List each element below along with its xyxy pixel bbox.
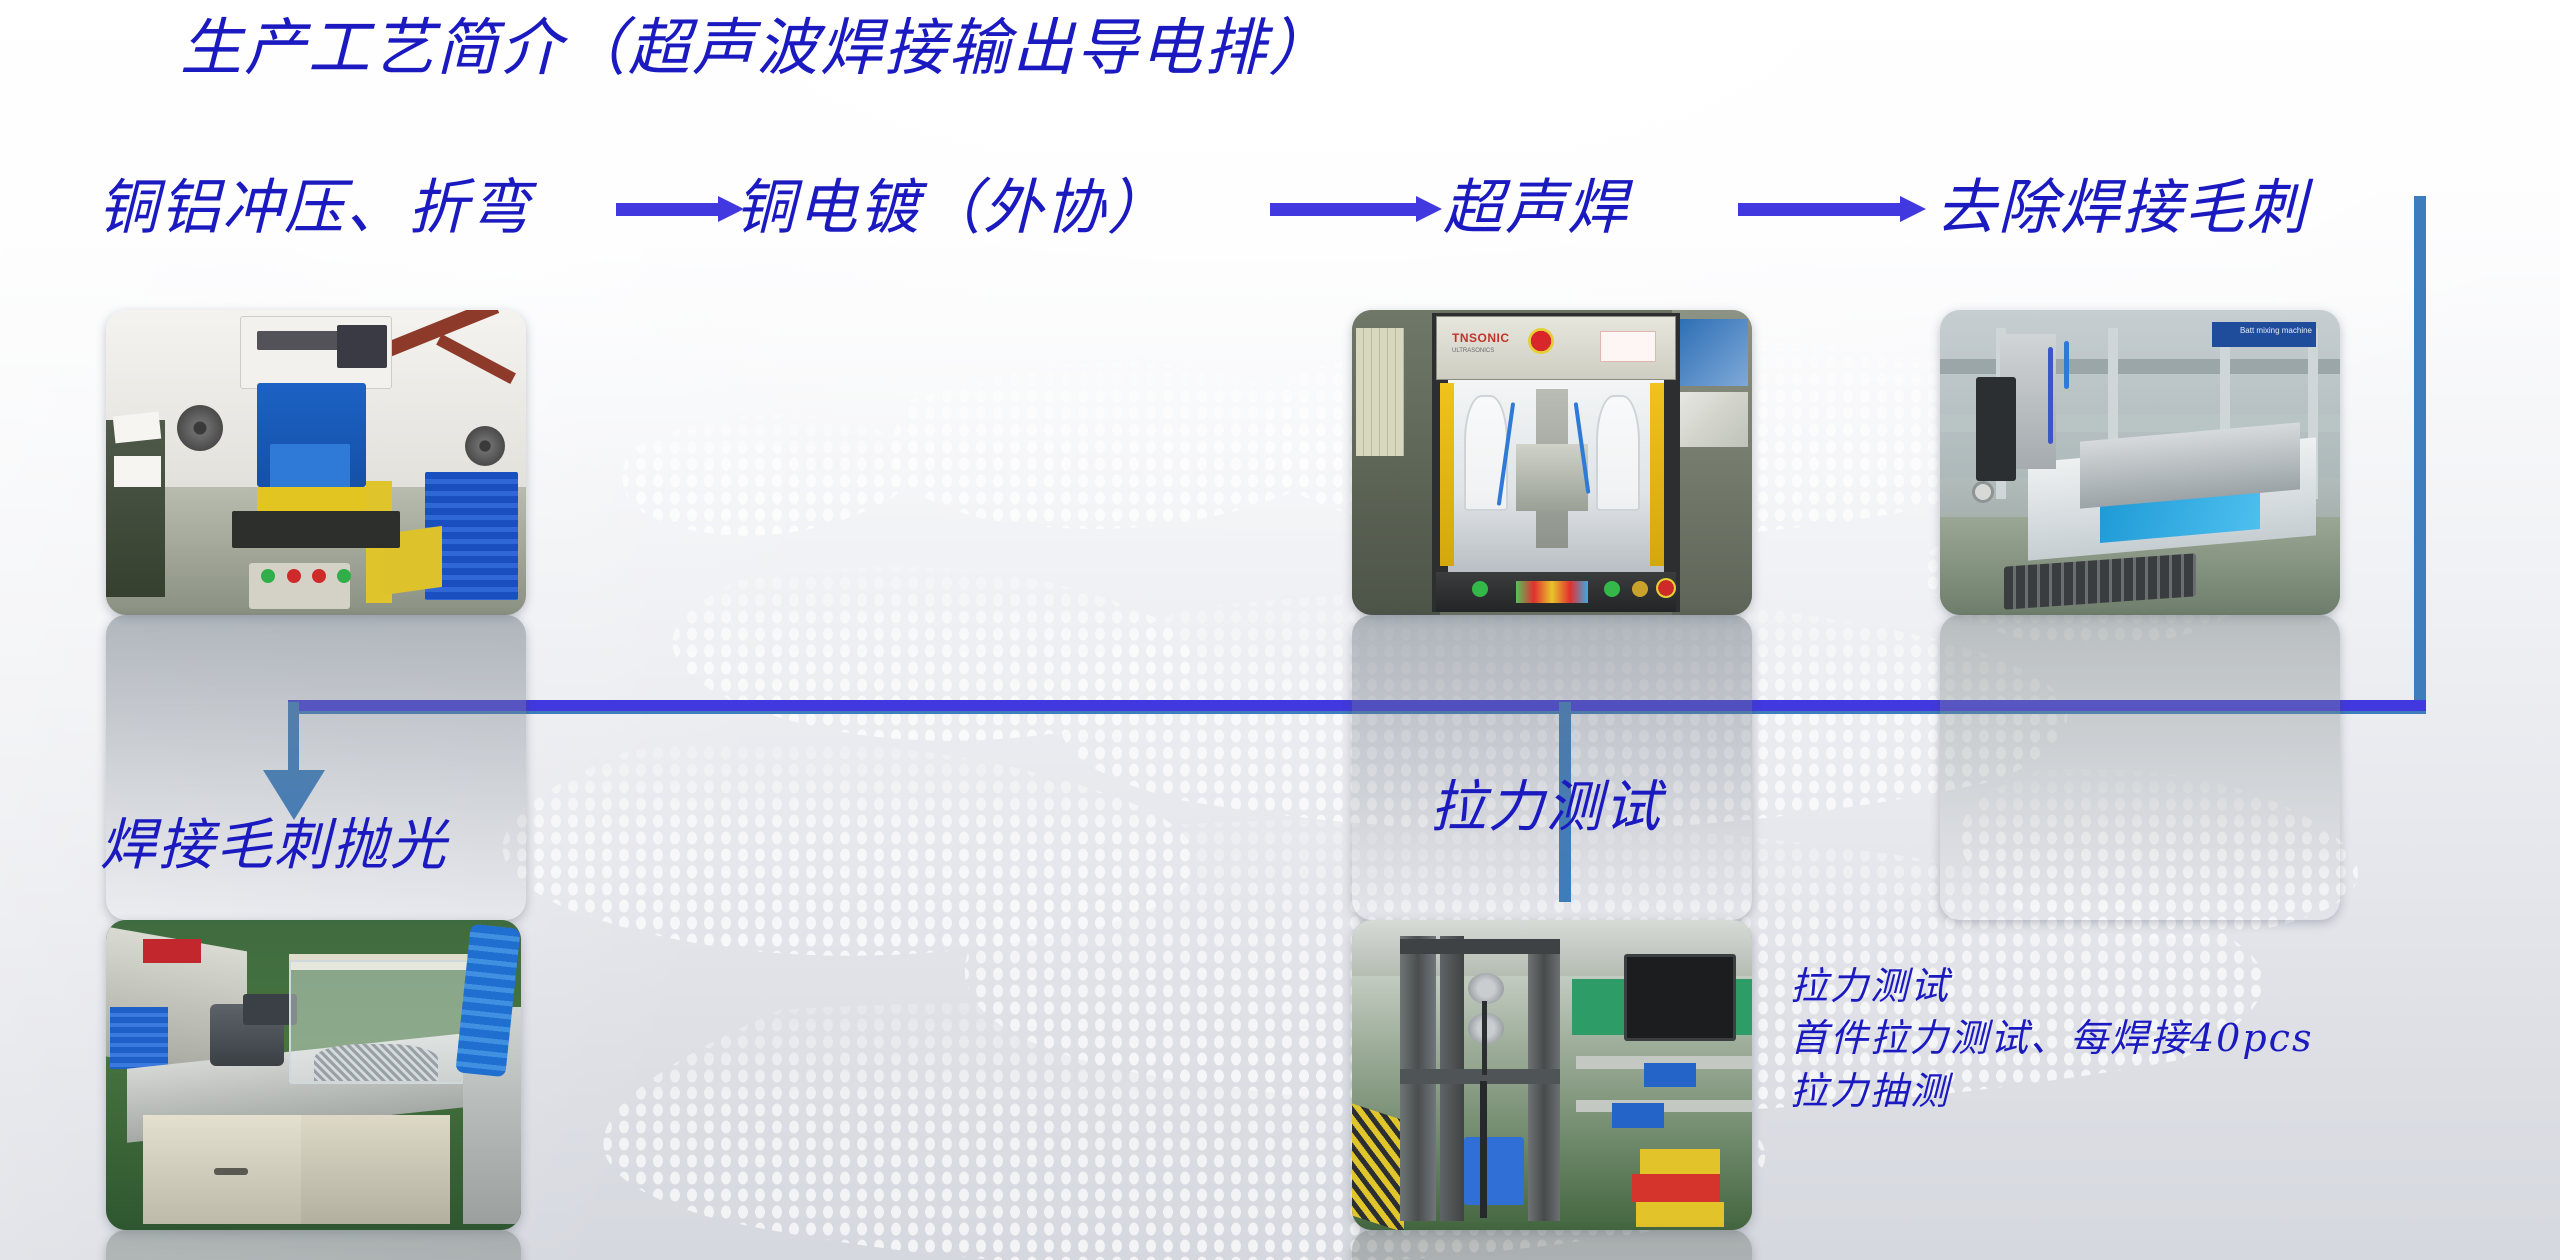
blue-hose xyxy=(2048,347,2053,445)
photo-deburring-machine-image: Batt mixing machine xyxy=(1940,310,2340,615)
note-line-1: 拉力测试 xyxy=(1790,960,2313,1012)
blue-stool xyxy=(1464,1137,1524,1205)
photo-tensile-tester-image xyxy=(1352,920,1752,1230)
welder-brand-subtext: ULTRASONICS xyxy=(1452,348,1494,354)
photo-deburring-machine: Batt mixing machine xyxy=(1940,310,2340,615)
arrow-shaft xyxy=(1270,203,1418,216)
notice-board-2 xyxy=(1680,392,1748,447)
button-legend-strip xyxy=(1516,581,1588,602)
polishing-wheel xyxy=(314,1044,439,1081)
connector-right-vertical xyxy=(2414,196,2426,714)
arrow-right-icon-2 xyxy=(1270,196,1442,222)
light-curtain-left xyxy=(1440,383,1454,566)
cabinet-frame xyxy=(301,1115,450,1224)
photo-tensile-tester xyxy=(1352,920,1752,1230)
side-shelf xyxy=(106,420,165,597)
photo-reflection xyxy=(106,1230,521,1260)
flow-step-deburring: 去除焊接毛刺 xyxy=(1936,178,2308,238)
black-cable-guard xyxy=(1976,377,2016,481)
blue-bin-2 xyxy=(1612,1103,1664,1128)
floor-hazard-tape xyxy=(1352,1104,1404,1230)
yellow-bin xyxy=(1640,1149,1720,1174)
photo-stamping-press-image xyxy=(106,310,526,615)
specimen-rod xyxy=(1482,1001,1487,1075)
wall-fan-icon xyxy=(177,405,223,451)
welder-tooling xyxy=(1516,444,1588,511)
light-curtain-right xyxy=(1650,383,1664,566)
red-crate xyxy=(143,939,201,964)
blue-signage-text: Batt mixing machine xyxy=(2240,326,2312,335)
arrow-head xyxy=(1900,196,1926,222)
arrow-right-icon-3 xyxy=(1738,196,1926,222)
monitor-screen xyxy=(1624,954,1736,1041)
photo-ultrasonic-welder: TNSONIC ULTRASONICS xyxy=(1352,310,1752,615)
wall-paper-sign-2 xyxy=(114,456,160,487)
tensile-test-note: 拉力测试 首件拉力测试、每焊接40pcs 拉力抽测 xyxy=(1790,960,2313,1117)
flow-step-copper-plating-outsourced: 铜电镀（外协） xyxy=(735,178,1169,238)
tester-top-beam xyxy=(1400,939,1560,955)
photo-polishing-machine-image xyxy=(106,920,521,1230)
note-line-3: 拉力抽测 xyxy=(1790,1065,2313,1117)
arrow-shaft xyxy=(1738,203,1902,216)
load-cell-shaft xyxy=(1480,1081,1487,1217)
arrow-head xyxy=(1416,196,1442,222)
press-brand-plate xyxy=(257,331,349,349)
label-tensile-test: 拉力测试 xyxy=(1430,762,1662,843)
blue-crate-stack xyxy=(110,1007,168,1069)
wall-paper-sign xyxy=(113,411,162,443)
note-line-2: 首件拉力测试、每焊接40pcs xyxy=(1790,1012,2313,1064)
page-title: 生产工艺简介（超声波焊接输出导电排） xyxy=(180,14,1332,82)
cabinet-handle-icon xyxy=(214,1168,248,1175)
arrow-right-icon-1 xyxy=(616,196,744,222)
hand-wheel-icon xyxy=(1972,481,1994,503)
press-table xyxy=(232,511,400,548)
slide-canvas: 生产工艺简介（超声波焊接输出导电排） 铜铝冲压、折弯 铜电镀（外协） 超声焊 去… xyxy=(0,0,2560,1260)
wall-fan-icon-2 xyxy=(465,426,505,466)
flow-step-ultrasonic-welding: 超声焊 xyxy=(1443,178,1629,238)
cabin-door-right xyxy=(1596,395,1640,511)
notice-board xyxy=(1680,319,1748,386)
press-bolster-yellow xyxy=(257,487,366,511)
window xyxy=(1356,328,1404,456)
blue-bin xyxy=(1644,1063,1696,1088)
welder-brand-text: TNSONIC xyxy=(1452,331,1510,345)
photo-polishing-machine xyxy=(106,920,521,1230)
blue-hose-2 xyxy=(2064,341,2069,390)
panel-label-sticker xyxy=(1600,331,1656,362)
press-panel xyxy=(337,325,387,368)
production-line-shelf-2 xyxy=(1576,1100,1752,1112)
yellow-bin-2 xyxy=(1636,1202,1724,1227)
photo-ultrasonic-welder-image: TNSONIC ULTRASONICS xyxy=(1352,310,1752,615)
red-bin xyxy=(1632,1174,1720,1202)
upper-grip xyxy=(1468,973,1504,1004)
photo-reflection xyxy=(1352,1230,1752,1260)
arrow-head xyxy=(718,196,744,222)
red-button-icon-2 xyxy=(312,569,326,583)
photo-stamping-press xyxy=(106,310,526,615)
red-button-icon xyxy=(287,569,301,583)
flow-step-stamping-bending: 铜铝冲压、折弯 xyxy=(98,178,532,238)
arrow-shaft xyxy=(616,203,720,216)
label-welding-burr-polishing: 焊接毛刺抛光 xyxy=(100,800,448,881)
photo-reflection xyxy=(1940,615,2340,920)
